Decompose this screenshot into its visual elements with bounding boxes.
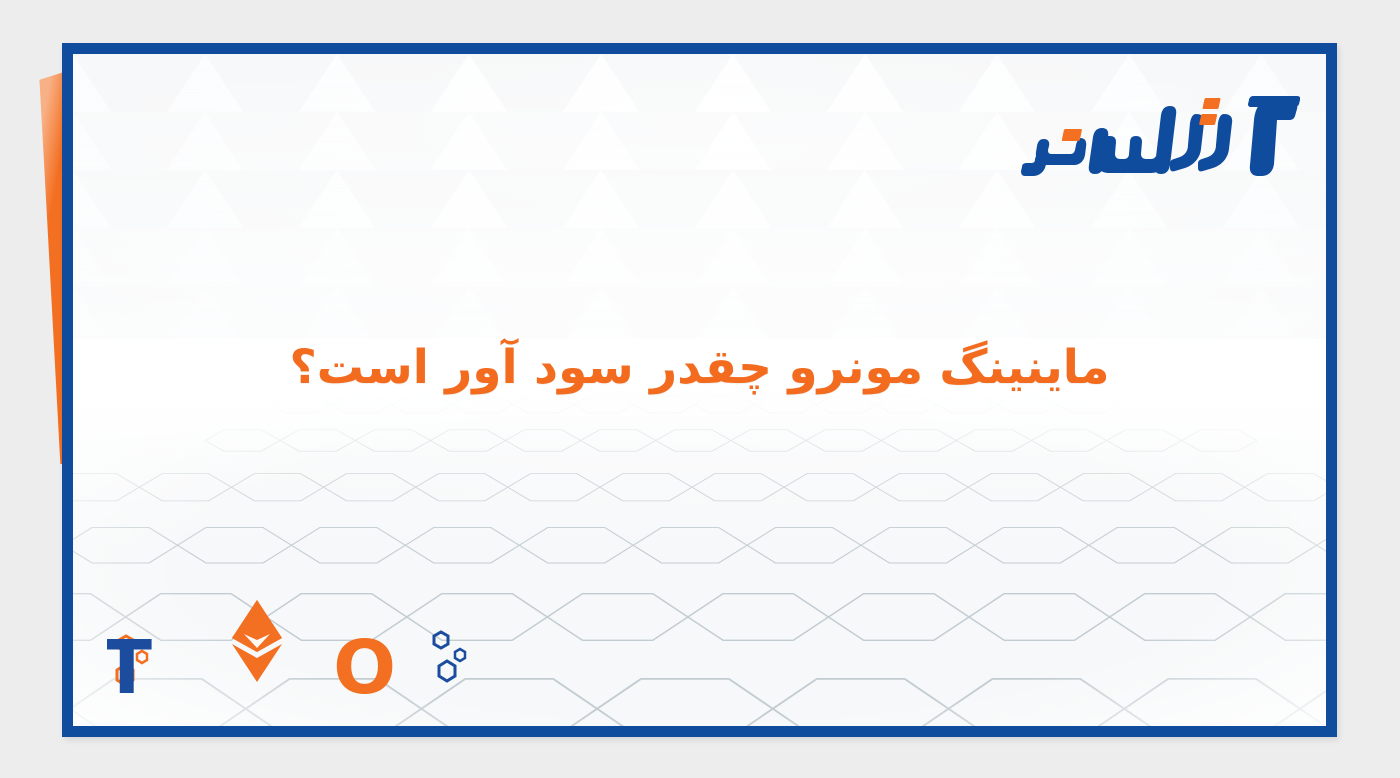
crypto-logo[interactable]: CRYPT O bbox=[107, 596, 467, 704]
blue-frame-border: ماینینگ مونرو چقدر سود آور است؟ bbox=[62, 43, 1337, 737]
brand-logo[interactable] bbox=[1010, 92, 1300, 184]
orange-accent-wedge bbox=[38, 72, 64, 464]
page-title: ماینینگ مونرو چقدر سود آور است؟ bbox=[73, 336, 1326, 399]
crypto-wordmark: CRYPT bbox=[107, 625, 153, 704]
crypto-wordmark-highlight: O bbox=[333, 625, 396, 704]
banner-canvas: ماینینگ مونرو چقدر سود آور است؟ bbox=[73, 54, 1326, 726]
hex-accent-right bbox=[434, 632, 465, 681]
banner-stage: ماینینگ مونرو چقدر سود آور است؟ bbox=[0, 0, 1400, 778]
